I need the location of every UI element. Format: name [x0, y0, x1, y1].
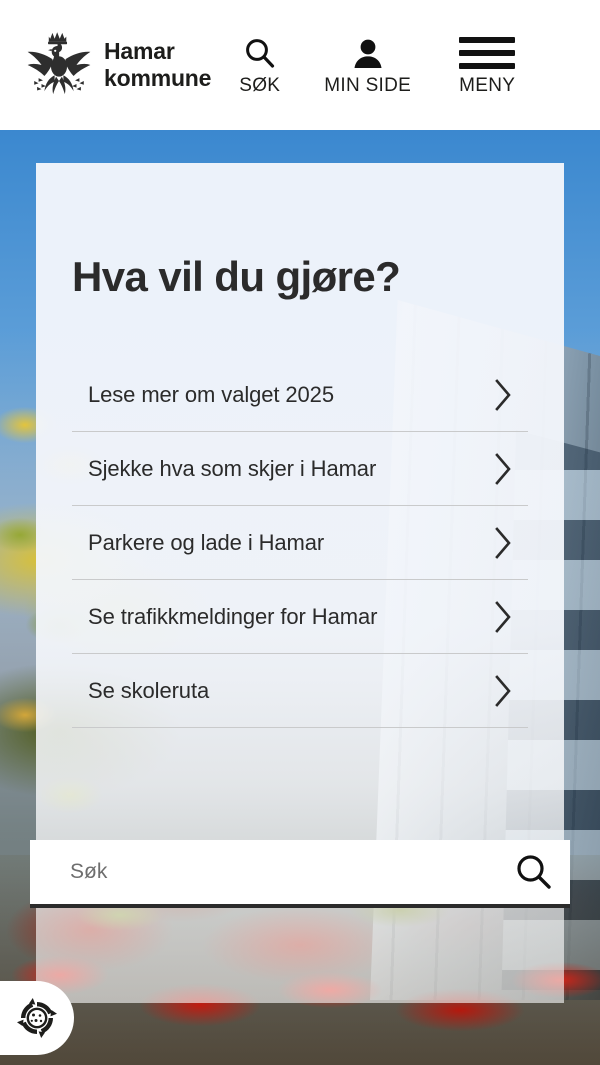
- quick-links-list: Lese mer om valget 2025 Sjekke hva som s…: [72, 358, 528, 728]
- quick-link-hva-skjer[interactable]: Sjekke hva som skjer i Hamar: [72, 432, 528, 506]
- hamburger-icon-wrap: [459, 33, 515, 73]
- chevron-right-icon: [492, 378, 514, 412]
- quick-link-skoleruta[interactable]: Se skoleruta: [72, 654, 528, 728]
- site-logo[interactable]: Hamar kommune: [22, 30, 211, 100]
- chevron-right-icon: [492, 452, 514, 486]
- nav-menu-label: MENY: [459, 75, 515, 97]
- quick-link-label: Lese mer om valget 2025: [88, 380, 334, 410]
- cookie-settings-icon: [10, 991, 64, 1045]
- header-nav: SØK MIN SIDE MENY: [237, 33, 515, 97]
- hamar-coat-of-arms-icon: [22, 30, 96, 100]
- logo-line-1: Hamar: [104, 38, 211, 65]
- quick-link-parkere[interactable]: Parkere og lade i Hamar: [72, 506, 528, 580]
- nav-min-side-label: MIN SIDE: [324, 75, 411, 97]
- search-bar: [30, 840, 570, 908]
- page-title: Hva vil du gjøre?: [72, 253, 528, 300]
- site-header: Hamar kommune SØK: [0, 0, 600, 130]
- quick-link-label: Sjekke hva som skjer i Hamar: [88, 454, 376, 484]
- search-icon: [243, 36, 277, 70]
- hero-card-content: Hva vil du gjøre? Lese mer om valget 202…: [36, 253, 564, 728]
- chevron-right-icon: [492, 674, 514, 708]
- search-icon-wrap: [243, 33, 277, 73]
- search-input[interactable]: [30, 860, 498, 884]
- quick-link-valget[interactable]: Lese mer om valget 2025: [72, 358, 528, 432]
- person-icon-wrap: [351, 33, 385, 73]
- nav-menu-button[interactable]: MENY: [459, 33, 515, 97]
- site-logo-text: Hamar kommune: [104, 38, 211, 92]
- chevron-right-icon: [492, 526, 514, 560]
- logo-line-2: kommune: [104, 65, 211, 92]
- search-icon: [513, 851, 555, 893]
- cookie-settings-button[interactable]: [0, 981, 74, 1055]
- nav-min-side-button[interactable]: MIN SIDE: [324, 33, 411, 97]
- person-icon: [351, 37, 385, 69]
- quick-link-label: Parkere og lade i Hamar: [88, 528, 324, 558]
- chevron-right-icon: [492, 600, 514, 634]
- search-submit-button[interactable]: [498, 838, 570, 906]
- nav-search-button[interactable]: SØK: [239, 33, 280, 97]
- quick-link-trafikkmeldinger[interactable]: Se trafikkmeldinger for Hamar: [72, 580, 528, 654]
- quick-link-label: Se skoleruta: [88, 676, 209, 706]
- hamburger-icon: [459, 37, 515, 69]
- quick-link-label: Se trafikkmeldinger for Hamar: [88, 602, 377, 632]
- page-root: Hva vil du gjøre? Lese mer om valget 202…: [0, 0, 600, 1065]
- nav-search-label: SØK: [239, 75, 280, 97]
